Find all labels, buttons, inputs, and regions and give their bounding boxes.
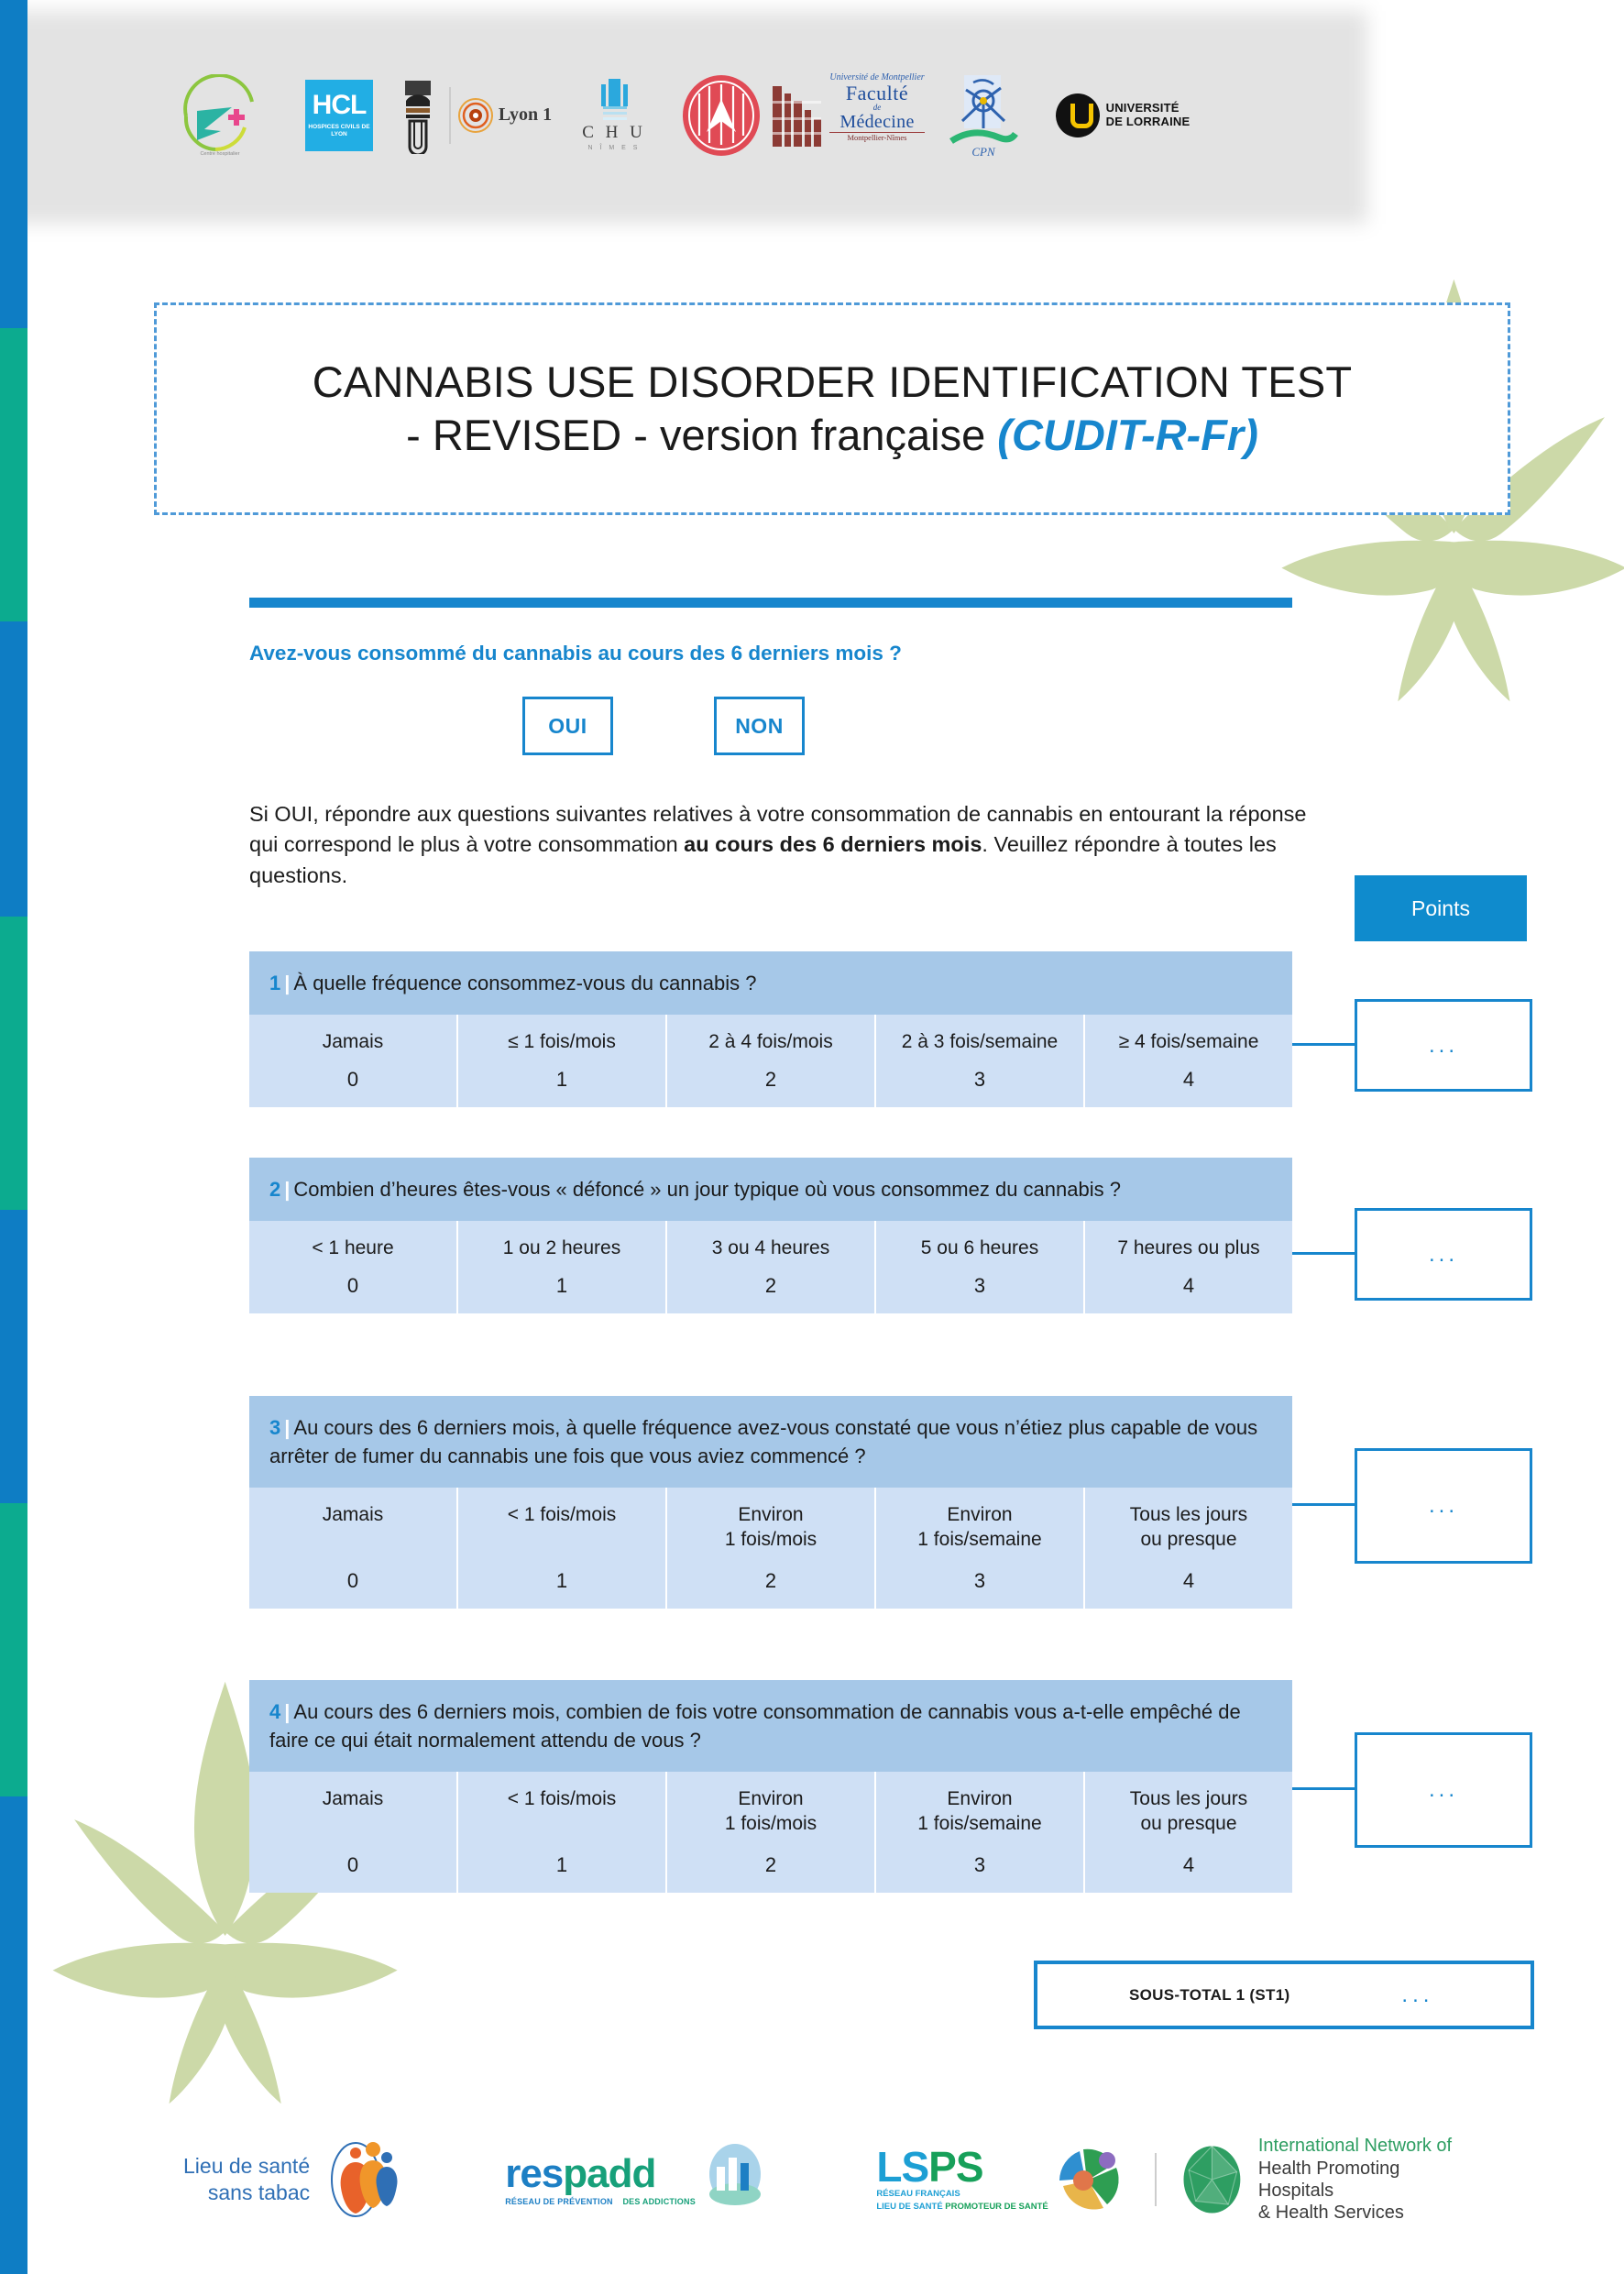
answer-option-4-3[interactable]: Environ1 fois/semaine3 xyxy=(876,1772,1085,1893)
answer-option-1-3[interactable]: 2 à 3 fois/semaine3 xyxy=(876,1015,1085,1107)
answer-option-label: < 1 heure xyxy=(312,1236,393,1261)
answer-option-score: 3 xyxy=(974,1068,985,1092)
answer-option-4-2[interactable]: Environ1 fois/mois2 xyxy=(667,1772,876,1893)
answer-option-3-2[interactable]: Environ1 fois/mois2 xyxy=(667,1488,876,1609)
answer-option-2-1[interactable]: 1 ou 2 heures1 xyxy=(458,1221,667,1313)
question-header-1: 1|À quelle fréquence consommez-vous du c… xyxy=(249,951,1292,1015)
question-text-2: Combien d’heures êtes-vous « défoncé » u… xyxy=(293,1178,1121,1201)
answer-options-row-3: Jamais0< 1 fois/mois1Environ1 fois/mois2… xyxy=(249,1488,1292,1609)
section-divider xyxy=(249,598,1292,608)
answer-option-score: 0 xyxy=(347,1274,358,1298)
answer-option-label: 2 à 4 fois/mois xyxy=(708,1030,832,1055)
question-number-1: 1 xyxy=(269,972,280,994)
answer-option-label: Tous les joursou presque xyxy=(1130,1787,1247,1837)
edge-strip-segment-0 xyxy=(0,0,27,328)
answer-option-score: 3 xyxy=(974,1274,985,1298)
lieu-de-sante-sans-tabac-logo: Lieu de santé sans tabac xyxy=(183,2140,450,2219)
question-block-4: 4|Au cours des 6 derniers mois, combien … xyxy=(249,1680,1292,1893)
edge-strip-segment-5 xyxy=(0,1503,27,1796)
answer-option-3-1[interactable]: < 1 fois/mois1 xyxy=(458,1488,667,1609)
subtotal-value[interactable]: ... xyxy=(1401,1983,1433,2008)
answer-option-label: Environ1 fois/semaine xyxy=(917,1787,1041,1837)
answer-option-label: Environ1 fois/semaine xyxy=(917,1503,1041,1553)
answer-option-1-0[interactable]: Jamais0 xyxy=(249,1015,458,1107)
answer-option-label: Jamais xyxy=(323,1503,384,1556)
answer-option-3-4[interactable]: Tous les joursou presque4 xyxy=(1085,1488,1292,1609)
answer-option-label: 7 heures ou plus xyxy=(1117,1236,1259,1261)
answer-connector-1 xyxy=(1292,1043,1356,1046)
answer-score-box-3[interactable]: ... xyxy=(1355,1448,1532,1564)
answer-option-4-0[interactable]: Jamais0 xyxy=(249,1772,458,1893)
question-separator: | xyxy=(280,1416,293,1439)
answer-option-label: 2 à 3 fois/semaine xyxy=(902,1030,1058,1055)
answer-option-score: 0 xyxy=(347,1853,358,1877)
lst-line1: Lieu de santé xyxy=(183,2153,310,2180)
question-separator: | xyxy=(280,972,293,994)
question-block-3: 3|Au cours des 6 derniers mois, à quelle… xyxy=(249,1396,1292,1609)
answer-option-label: Tous les joursou presque xyxy=(1130,1503,1247,1553)
lsps-sub-b2: PROMOTEUR DE SANTÉ xyxy=(945,2202,1048,2212)
lsps-sub-b1: LIEU DE SANTÉ xyxy=(876,2202,942,2212)
answer-options-row-4: Jamais0< 1 fois/mois1Environ1 fois/mois2… xyxy=(249,1772,1292,1893)
answer-option-3-3[interactable]: Environ1 fois/semaine3 xyxy=(876,1488,1085,1609)
question-text-1: À quelle fréquence consommez-vous du can… xyxy=(293,972,756,994)
answer-option-score: 4 xyxy=(1183,1068,1194,1092)
international-network-hphs-logo: International Network of Health Promotin… xyxy=(1177,2135,1466,2225)
answer-option-label: < 1 fois/mois xyxy=(508,1787,616,1840)
respadd-logo: respadd RÉSEAU DE PRÉVENTION DES ADDICTI… xyxy=(505,2143,858,2216)
answer-option-label: < 1 fois/mois xyxy=(508,1503,616,1556)
inhphs-line2: Health Promoting Hospitals xyxy=(1258,2158,1466,2203)
document-page: Centre hospitalier HCL HOSPICES CIVILS D… xyxy=(0,0,1624,2274)
lsps-logo: LSPS RÉSEAU FRANÇAIS LIEU DE SANTÉ PROMO… xyxy=(876,2144,1135,2215)
respadd-sub-b: DES ADDICTIONS xyxy=(622,2197,695,2206)
answer-option-3-0[interactable]: Jamais0 xyxy=(249,1488,458,1609)
answer-option-label: Environ1 fois/mois xyxy=(725,1787,817,1837)
answer-option-score: 2 xyxy=(765,1068,776,1092)
non-button[interactable]: NON xyxy=(714,697,805,755)
answer-option-2-2[interactable]: 3 ou 4 heures2 xyxy=(667,1221,876,1313)
subtotal-label: SOUS-TOTAL 1 (ST1) xyxy=(1129,1986,1289,2005)
answer-connector-4 xyxy=(1292,1787,1356,1790)
inhphs-line3: & Health Services xyxy=(1258,2202,1466,2224)
answer-score-box-4[interactable]: ... xyxy=(1355,1732,1532,1848)
answer-option-label: Environ1 fois/mois xyxy=(725,1503,817,1553)
answer-option-1-1[interactable]: ≤ 1 fois/mois1 xyxy=(458,1015,667,1107)
question-text-3: Au cours des 6 derniers mois, à quelle f… xyxy=(269,1416,1257,1467)
left-color-strips xyxy=(0,0,27,2274)
answer-option-4-1[interactable]: < 1 fois/mois1 xyxy=(458,1772,667,1893)
answer-option-1-4[interactable]: ≥ 4 fois/semaine4 xyxy=(1085,1015,1292,1107)
question-block-2: 2|Combien d’heures êtes-vous « défoncé »… xyxy=(249,1158,1292,1313)
edge-strip-segment-2 xyxy=(0,621,27,917)
question-header-3: 3|Au cours des 6 derniers mois, à quelle… xyxy=(249,1396,1292,1488)
answer-option-score: 4 xyxy=(1183,1569,1194,1593)
answer-option-4-4[interactable]: Tous les joursou presque4 xyxy=(1085,1772,1292,1893)
footer-divider xyxy=(1155,2153,1157,2206)
answer-options-row-1: Jamais0≤ 1 fois/mois12 à 4 fois/mois22 à… xyxy=(249,1015,1292,1107)
instructions-bold: au cours des 6 derniers mois xyxy=(684,832,982,856)
question-number-3: 3 xyxy=(269,1416,280,1439)
instructions-text: Si OUI, répondre aux questions suivantes… xyxy=(249,799,1312,891)
answer-option-score: 1 xyxy=(556,1569,567,1593)
answer-score-box-2[interactable]: ... xyxy=(1355,1208,1532,1301)
edge-strip-segment-3 xyxy=(0,917,27,1210)
answer-option-label: Jamais xyxy=(323,1787,384,1840)
oui-button[interactable]: OUI xyxy=(522,697,613,755)
answer-option-2-0[interactable]: < 1 heure0 xyxy=(249,1221,458,1313)
question-block-1: 1|À quelle fréquence consommez-vous du c… xyxy=(249,951,1292,1107)
answer-option-score: 4 xyxy=(1183,1274,1194,1298)
answer-option-score: 1 xyxy=(556,1274,567,1298)
answer-option-label: 3 ou 4 heures xyxy=(712,1236,829,1261)
answer-option-score: 0 xyxy=(347,1569,358,1593)
screening-question: Avez-vous consommé du cannabis au cours … xyxy=(249,642,902,665)
answer-option-score: 2 xyxy=(765,1274,776,1298)
answer-option-label: Jamais xyxy=(323,1030,384,1055)
answer-option-label: 5 ou 6 heures xyxy=(921,1236,1038,1261)
partner-logos-footer: Lieu de santé sans tabac respadd RÉSEAU … xyxy=(183,2125,1466,2235)
answer-option-score: 1 xyxy=(556,1068,567,1092)
question-separator: | xyxy=(280,1700,293,1723)
edge-strip-segment-6 xyxy=(0,1796,27,2274)
answer-option-label: ≤ 1 fois/mois xyxy=(508,1030,616,1055)
subtotal-box: SOUS-TOTAL 1 (ST1) ... xyxy=(1034,1961,1534,2029)
respadd-sub-a: RÉSEAU DE PRÉVENTION xyxy=(505,2197,613,2206)
question-number-2: 2 xyxy=(269,1178,280,1201)
answer-option-score: 0 xyxy=(347,1068,358,1092)
answer-option-2-3[interactable]: 5 ou 6 heures3 xyxy=(876,1221,1085,1313)
lst-line2: sans tabac xyxy=(183,2180,310,2206)
answer-option-2-4[interactable]: 7 heures ou plus4 xyxy=(1085,1221,1292,1313)
answer-option-score: 3 xyxy=(974,1853,985,1877)
answer-options-row-2: < 1 heure01 ou 2 heures13 ou 4 heures25 … xyxy=(249,1221,1292,1313)
question-number-4: 4 xyxy=(269,1700,280,1723)
yes-no-answer-group: OUI NON xyxy=(522,697,805,755)
answer-connector-3 xyxy=(1292,1503,1356,1506)
answer-option-label: ≥ 4 fois/semaine xyxy=(1119,1030,1259,1055)
answer-connector-2 xyxy=(1292,1252,1356,1255)
inhphs-line1: International Network of xyxy=(1258,2135,1466,2157)
edge-strip-segment-4 xyxy=(0,1210,27,1503)
points-column-header: Points xyxy=(1355,875,1527,941)
question-header-4: 4|Au cours des 6 derniers mois, combien … xyxy=(249,1680,1292,1772)
answer-option-score: 2 xyxy=(765,1569,776,1593)
answer-option-1-2[interactable]: 2 à 4 fois/mois2 xyxy=(667,1015,876,1107)
question-text-4: Au cours des 6 derniers mois, combien de… xyxy=(269,1700,1241,1752)
edge-strip-segment-1 xyxy=(0,328,27,621)
answer-option-score: 3 xyxy=(974,1569,985,1593)
answer-score-box-1[interactable]: ... xyxy=(1355,999,1532,1092)
question-header-2: 2|Combien d’heures êtes-vous « défoncé »… xyxy=(249,1158,1292,1221)
answer-option-score: 1 xyxy=(556,1853,567,1877)
question-separator: | xyxy=(280,1178,293,1201)
answer-option-label: 1 ou 2 heures xyxy=(503,1236,620,1261)
answer-option-score: 4 xyxy=(1183,1853,1194,1877)
answer-option-score: 2 xyxy=(765,1853,776,1877)
